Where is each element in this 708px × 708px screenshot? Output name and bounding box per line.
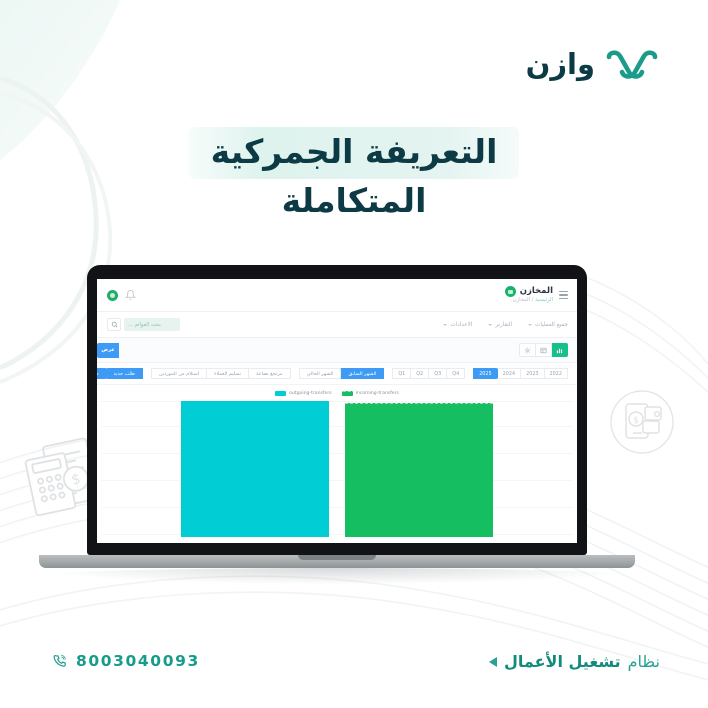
hamburger-icon[interactable]: [559, 291, 568, 299]
app-header: المخازن الرئيسية / المخازن: [97, 279, 577, 312]
table-grid-icon-button[interactable]: [535, 343, 552, 357]
pill-q2[interactable]: Q2: [410, 368, 429, 379]
app-toolbar: عرض: [97, 338, 577, 363]
legend-swatch-outgoing: [275, 391, 286, 396]
breadcrumb-current: المخازن: [513, 297, 530, 303]
pill-receive-suppliers[interactable]: استلام من الموردين: [151, 368, 207, 379]
breadcrumb: الرئيسية / المخازن: [505, 298, 553, 304]
mobile-wallet-payment-icon: $: [595, 375, 690, 470]
settings-gear-icon-button[interactable]: [519, 343, 536, 357]
legend-item-outgoing[interactable]: outgoing-transfers: [275, 391, 332, 396]
search-group: بحث القوائم ...: [107, 318, 180, 331]
chevron-down-icon: [443, 324, 447, 326]
svg-text:$: $: [70, 471, 82, 489]
nav-label: الاعدادات: [450, 322, 472, 328]
bar-outgoing-transfers[interactable]: [181, 401, 329, 537]
pill-new-order[interactable]: طلب جديد: [106, 368, 143, 379]
nav-item-operations[interactable]: جميع العمليات: [528, 322, 568, 328]
app-nav: جميع العمليات التقارير الاعدادات: [97, 312, 577, 338]
pill-previous-month[interactable]: الشهر السابق: [340, 368, 384, 379]
tagline-light: نظام: [628, 652, 660, 671]
chart-bar-icon-button[interactable]: [551, 343, 568, 357]
search-button[interactable]: [107, 318, 121, 331]
pill-draft-order[interactable]: طلب مسودة: [97, 368, 107, 379]
page-title: التعريفة الجمركية المتكاملة: [0, 127, 708, 223]
status-online-icon[interactable]: [107, 290, 118, 301]
headline-line-2: المتكاملة: [260, 179, 449, 223]
laptop-shadow: [35, 568, 639, 584]
svg-text:$: $: [633, 416, 639, 426]
phone-number: 8003040093: [76, 652, 200, 670]
bar-incoming-transfers[interactable]: [345, 403, 493, 537]
laptop-mockup: المخازن الرئيسية / المخازن: [87, 265, 587, 555]
export-chip-button[interactable]: عرض: [97, 343, 119, 358]
laptop-base: [39, 555, 635, 568]
search-icon: [111, 321, 118, 328]
search-input[interactable]: بحث القوائم ...: [124, 318, 180, 331]
toolbar-icons: [520, 343, 568, 357]
chart-area: outgoing-transfers incoming-transfers: [97, 385, 577, 537]
poster-canvas: $ $ وازن التعريفة الجمركية المتكاملة: [0, 0, 708, 708]
tagline-bold: تشغيل الأعمال: [504, 652, 621, 671]
headline-line-1: التعريفة الجمركية: [189, 127, 520, 179]
laptop-trackpad-notch: [298, 555, 376, 560]
nav-item-reports[interactable]: التقارير: [488, 322, 512, 328]
chart-legend: outgoing-transfers incoming-transfers: [97, 385, 577, 401]
operation-filters: مرتجع بضاعة تسليم العملاء استلام من المو…: [152, 368, 291, 379]
wazen-w-mark-icon: [604, 48, 660, 84]
chevron-down-icon: [528, 324, 532, 326]
brand-logo: وازن: [526, 48, 660, 84]
app-title: المخازن: [520, 287, 553, 297]
footer-tagline: نظام تشغيل الأعمال: [489, 652, 660, 671]
breadcrumb-home[interactable]: الرئيسية: [535, 297, 553, 303]
chevron-down-icon: [488, 324, 492, 326]
breadcrumb-separator: /: [532, 297, 534, 303]
chart-plot: [101, 401, 573, 537]
table-grid-icon: [540, 347, 547, 354]
brand-name: وازن: [526, 50, 595, 82]
pill-q1[interactable]: Q1: [392, 368, 411, 379]
pill-year-2025[interactable]: 2025: [473, 368, 497, 379]
pill-year-2022[interactable]: 2022: [544, 368, 568, 379]
pill-year-2023[interactable]: 2023: [520, 368, 544, 379]
bell-icon[interactable]: [125, 289, 136, 301]
nav-item-settings[interactable]: الاعدادات: [443, 322, 472, 328]
search-placeholder: بحث القوائم ...: [128, 322, 161, 328]
pill-year-2024[interactable]: 2024: [497, 368, 521, 379]
triangle-left-icon: [489, 657, 497, 667]
status-filters: طلب جديد طلب مسودة: [97, 368, 143, 379]
settings-gear-icon: [524, 347, 531, 354]
pill-q3[interactable]: Q3: [428, 368, 447, 379]
nav-label: التقارير: [495, 322, 512, 328]
pill-q4[interactable]: Q4: [446, 368, 465, 379]
app-screen: المخازن الرئيسية / المخازن: [97, 279, 577, 543]
pill-current-month[interactable]: الشهر الحالي: [299, 368, 342, 379]
nav-label: جميع العمليات: [535, 322, 568, 328]
legend-swatch-incoming: [342, 391, 353, 396]
filter-pill-row: 2022 2023 2024 2025 Q4 Q3 Q2 Q1 الشهر ال…: [97, 363, 577, 385]
legend-item-incoming[interactable]: incoming-transfers: [342, 391, 399, 396]
legend-label-outgoing: outgoing-transfers: [289, 391, 332, 396]
laptop-lid: المخازن الرئيسية / المخازن: [87, 265, 587, 555]
chart-bar-icon: [556, 347, 563, 354]
pill-deliver-customers[interactable]: تسليم العملاء: [206, 368, 249, 379]
year-filters: 2022 2023 2024 2025: [474, 368, 568, 379]
nav-items: جميع العمليات التقارير الاعدادات: [443, 322, 568, 328]
quarter-filters: Q4 Q3 Q2 Q1: [393, 368, 465, 379]
footer-contact[interactable]: 8003040093: [52, 652, 200, 670]
chart-bars: [101, 402, 573, 537]
legend-label-incoming: incoming-transfers: [356, 391, 399, 396]
user-avatar-icon[interactable]: [505, 286, 516, 297]
period-filters: الشهر السابق الشهر الحالي: [300, 368, 385, 379]
pill-return-goods[interactable]: مرتجع بضاعة: [248, 368, 291, 379]
phone-icon: [52, 654, 67, 669]
